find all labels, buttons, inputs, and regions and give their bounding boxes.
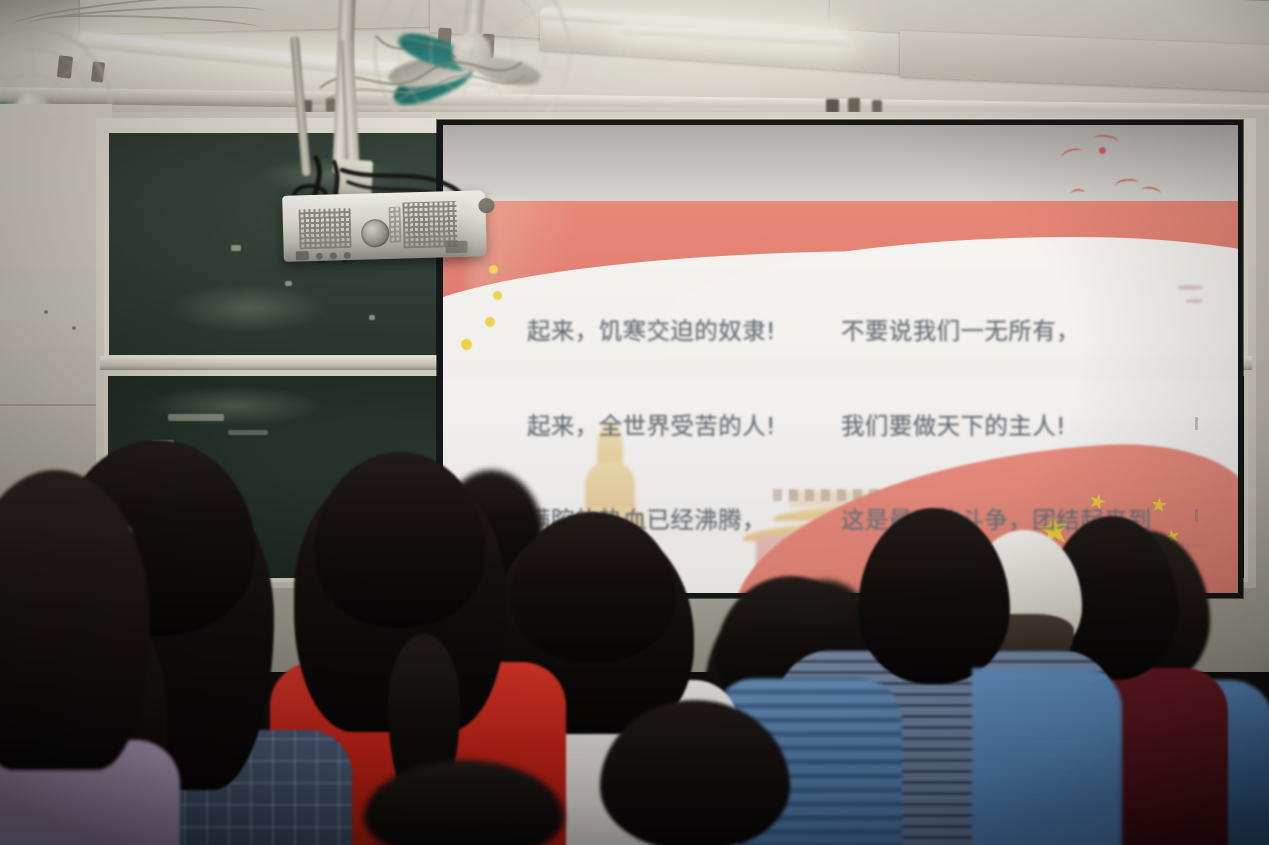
projector: [282, 190, 487, 262]
person-silhouette: [364, 760, 564, 845]
lyric-line: 不要说我们一无所有，: [841, 316, 1201, 348]
wall-mark: [44, 310, 48, 314]
classroom-photo: 起来，饥寒交迫的奴隶! 起来，全世界受苦的人! 满腔的热血已经沸腾， 要为真理而…: [0, 0, 1269, 845]
ceiling-bracket: [848, 98, 860, 113]
ceiling-bracket: [826, 99, 839, 113]
shoulder-strap: [972, 668, 1122, 845]
projector-vent: [388, 207, 401, 243]
wall-seam: [0, 404, 110, 406]
person-silhouette: [600, 700, 790, 845]
lyric-line: 起来，饥寒交迫的奴隶!: [527, 316, 827, 348]
person-lavender-top: [0, 470, 180, 845]
lyric-line: 我们要做天下的主人!: [841, 411, 1201, 443]
projector-vent: [299, 208, 352, 249]
wall-mark: [72, 326, 76, 330]
projector-port: [445, 241, 467, 254]
projector-port: [296, 251, 309, 260]
lyric-line: 起来，全世界受苦的人!: [527, 411, 827, 443]
